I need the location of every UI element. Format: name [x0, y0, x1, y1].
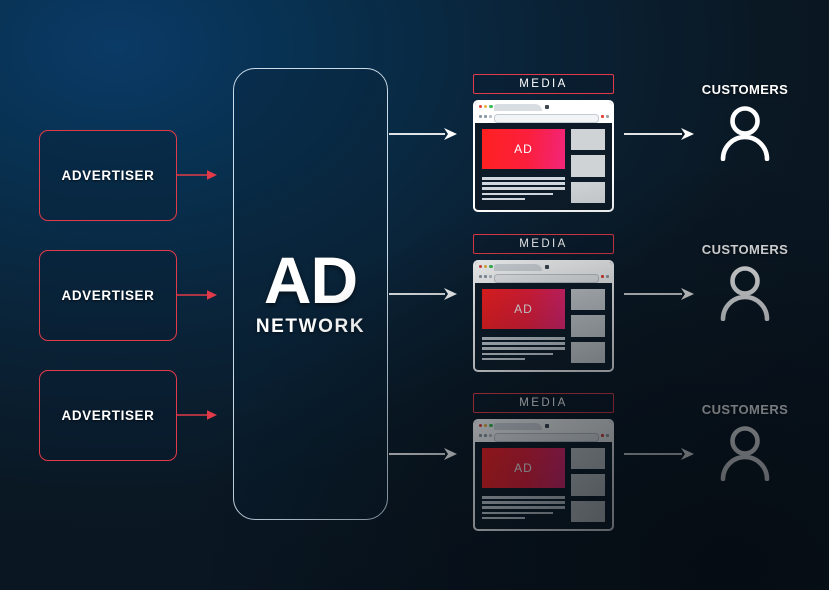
arrow-network-to-media-2 [389, 286, 458, 302]
ad-network-panel[interactable]: AD NETWORK [233, 68, 388, 520]
bookmark-icon[interactable] [601, 434, 604, 437]
advertiser-box-1[interactable]: ADVERTISER [39, 130, 177, 221]
media-label-text: MEDIA [519, 238, 567, 250]
address-bar[interactable] [494, 274, 599, 283]
advertiser-box-3[interactable]: ADVERTISER [39, 370, 177, 461]
red-dot-icon [479, 424, 482, 427]
back-arrow-icon[interactable] [479, 275, 482, 278]
text-line [482, 512, 553, 515]
media-group-3: MEDIA AD [473, 393, 614, 531]
customers-group-3: CUSTOMERS [695, 402, 795, 481]
green-dot-icon [489, 265, 492, 268]
ad-banner-label: AD [514, 302, 533, 316]
reload-icon[interactable] [489, 434, 492, 437]
ad-network-subtitle: NETWORK [256, 316, 365, 338]
text-line [482, 517, 525, 520]
person-icon [715, 423, 775, 481]
sidebar-block [571, 342, 605, 363]
customers-label: CUSTOMERS [695, 82, 795, 97]
menu-icon[interactable] [606, 434, 609, 437]
ad-banner-label: AD [514, 461, 533, 475]
new-tab-icon[interactable] [545, 105, 549, 109]
red-dot-icon [479, 105, 482, 108]
page-text-lines [482, 496, 565, 519]
text-line [482, 496, 565, 499]
menu-icon[interactable] [606, 275, 609, 278]
arrow-media-to-customers-2 [624, 286, 695, 302]
new-tab-icon[interactable] [545, 424, 549, 428]
address-bar[interactable] [494, 114, 599, 123]
diagram-canvas: ADVERTISER ADVERTISER ADVERTISER AD NETW… [0, 0, 829, 590]
arrow-media-to-customers-1 [624, 126, 695, 142]
browser-window[interactable]: AD [473, 419, 614, 531]
customers-group-2: CUSTOMERS [695, 242, 795, 321]
browser-viewport: AD [475, 442, 612, 529]
media-group-1: MEDIA AD [473, 74, 614, 212]
ad-banner-label: AD [514, 142, 533, 156]
text-line [482, 358, 525, 361]
ad-network-title: AD [264, 250, 357, 311]
browser-chrome [475, 262, 612, 283]
forward-arrow-icon[interactable] [484, 275, 487, 278]
red-dot-icon [479, 265, 482, 268]
yellow-dot-icon [484, 424, 487, 427]
bookmark-icon[interactable] [601, 275, 604, 278]
yellow-dot-icon [484, 265, 487, 268]
text-line [482, 501, 565, 504]
back-arrow-icon[interactable] [479, 115, 482, 118]
browser-tab[interactable] [494, 104, 542, 112]
browser-viewport: AD [475, 283, 612, 370]
green-dot-icon [489, 105, 492, 108]
sidebar-block [571, 315, 605, 336]
person-icon [715, 103, 775, 161]
arrow-media-to-customers-3 [624, 446, 695, 462]
text-line [482, 182, 565, 185]
browser-tab[interactable] [494, 264, 542, 272]
traffic-light-dots [479, 265, 493, 268]
page-text-lines [482, 177, 565, 200]
text-line [482, 177, 565, 180]
page-main-column: AD [482, 448, 565, 522]
menu-icon[interactable] [606, 115, 609, 118]
new-tab-icon[interactable] [545, 265, 549, 269]
forward-arrow-icon[interactable] [484, 115, 487, 118]
customers-label: CUSTOMERS [695, 242, 795, 257]
media-group-2: MEDIA AD [473, 234, 614, 372]
sidebar-block [571, 448, 605, 469]
media-label-badge: MEDIA [473, 393, 614, 413]
text-line [482, 342, 565, 345]
text-line [482, 193, 553, 196]
green-dot-icon [489, 424, 492, 427]
arrow-advertiser-to-network-1 [177, 168, 218, 182]
customers-label: CUSTOMERS [695, 402, 795, 417]
media-label-badge: MEDIA [473, 234, 614, 254]
arrow-network-to-media-3 [389, 446, 458, 462]
text-line [482, 187, 565, 190]
advertiser-label: ADVERTISER [61, 408, 154, 423]
browser-window[interactable]: AD [473, 260, 614, 372]
arrow-network-to-media-1 [389, 126, 458, 142]
media-label-badge: MEDIA [473, 74, 614, 94]
ad-banner[interactable]: AD [482, 129, 565, 169]
text-line [482, 353, 553, 356]
back-arrow-icon[interactable] [479, 434, 482, 437]
ad-banner[interactable]: AD [482, 448, 565, 488]
address-bar[interactable] [494, 433, 599, 442]
advertiser-label: ADVERTISER [61, 288, 154, 303]
sidebar-block [571, 501, 605, 522]
reload-icon[interactable] [489, 115, 492, 118]
browser-tab[interactable] [494, 423, 542, 431]
page-text-lines [482, 337, 565, 360]
page-sidebar-column [571, 448, 605, 522]
page-sidebar-column [571, 289, 605, 363]
text-line [482, 347, 565, 350]
media-label-text: MEDIA [519, 397, 567, 409]
browser-chrome [475, 102, 612, 123]
browser-viewport: AD [475, 123, 612, 210]
ad-banner[interactable]: AD [482, 289, 565, 329]
yellow-dot-icon [484, 105, 487, 108]
person-icon [715, 263, 775, 321]
sidebar-block [571, 155, 605, 176]
arrow-advertiser-to-network-3 [177, 408, 218, 422]
sidebar-block [571, 474, 605, 495]
forward-arrow-icon[interactable] [484, 434, 487, 437]
page-main-column: AD [482, 129, 565, 203]
browser-chrome [475, 421, 612, 442]
page-main-column: AD [482, 289, 565, 363]
advertiser-label: ADVERTISER [61, 168, 154, 183]
text-line [482, 506, 565, 509]
advertiser-box-2[interactable]: ADVERTISER [39, 250, 177, 341]
sidebar-block [571, 289, 605, 310]
traffic-light-dots [479, 424, 493, 427]
customers-group-1: CUSTOMERS [695, 82, 795, 161]
traffic-light-dots [479, 105, 493, 108]
sidebar-block [571, 129, 605, 150]
browser-window[interactable]: AD [473, 100, 614, 212]
page-sidebar-column [571, 129, 605, 203]
arrow-advertiser-to-network-2 [177, 288, 218, 302]
sidebar-block [571, 182, 605, 203]
media-label-text: MEDIA [519, 78, 567, 90]
text-line [482, 337, 565, 340]
text-line [482, 198, 525, 201]
bookmark-icon[interactable] [601, 115, 604, 118]
reload-icon[interactable] [489, 275, 492, 278]
